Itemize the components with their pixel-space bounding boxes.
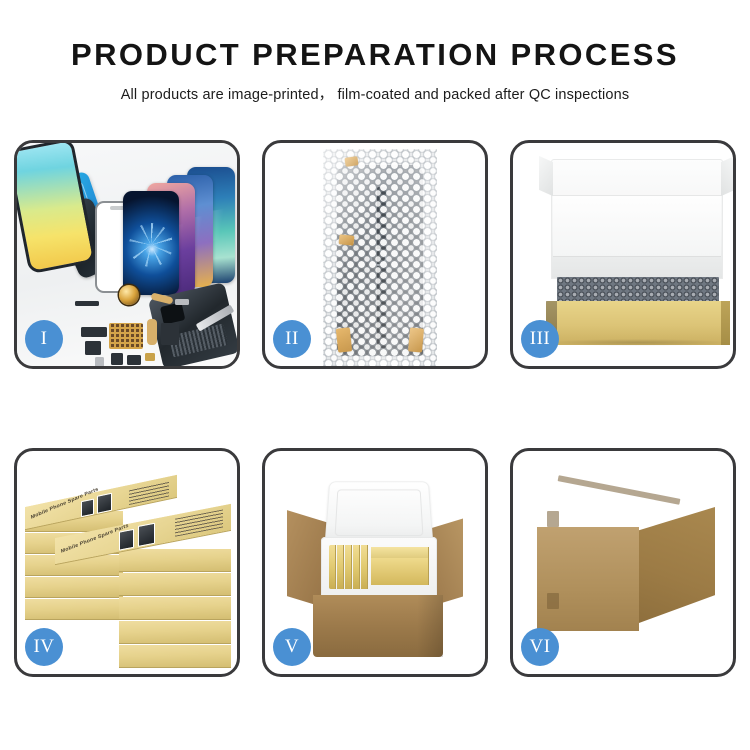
process-step-panel-6[interactable]: VI [510,448,736,677]
drop-shadow [549,339,727,346]
flex-cable-icon [150,292,173,304]
stacked-box [25,577,123,597]
lid-product-photo [97,493,112,514]
step-badge-3: III [521,320,559,358]
process-step-panel-4[interactable]: Mobile Phone Spare Parts Mobile Phone Sp… [14,448,240,677]
stacked-box [119,573,231,595]
lid-spec-text [129,481,169,506]
module-part-icon [161,323,179,345]
screw-part-icon [175,299,189,305]
lid-product-photo [138,523,155,547]
speaker-part-icon [127,355,141,365]
bubble-wrap-bag-icon [323,149,437,366]
step-badge-2: II [273,320,311,358]
foam-band-icon [553,195,721,257]
stacked-box [119,621,231,643]
process-step-panel-3[interactable]: III [510,140,736,369]
styrofoam-lid-icon [325,481,434,545]
inner-yellow-box [353,545,360,589]
bracket-part-icon [75,301,99,306]
inner-yellow-box [345,545,352,589]
plastic-gloss [323,149,437,366]
lid-product-photo [81,498,94,517]
inner-yellow-box [329,545,336,589]
camera-lens-icon [119,285,139,305]
gold-contact-icon [145,353,155,361]
stacked-box [119,597,231,619]
step-badge-6: VI [521,628,559,666]
inner-yellow-box-flat [371,558,429,584]
inner-yellow-box [337,545,344,589]
carton-front-face-icon [537,527,639,631]
screw-part-icon [111,353,123,365]
sim-tray-icon [95,357,104,366]
process-step-panel-5[interactable]: V [262,448,488,677]
inner-yellow-box [361,545,368,589]
seal-tape-corner-lower-icon [547,593,559,609]
lid-product-photo [119,529,134,551]
yellow-boxes-inside-icon [329,545,429,589]
step-badge-5: V [273,628,311,666]
page-subtitle: All products are image-printed， film-coa… [0,83,750,104]
process-step-grid: I II III [14,140,736,677]
bracket-part-icon [85,341,101,355]
phone-blue-swirl-wallpaper-icon [123,191,179,295]
flex-cable-icon [147,319,157,345]
inner-yellow-box-flat [371,547,429,558]
stacked-box [119,549,231,571]
stacked-box [119,645,231,667]
page-title: PRODUCT PREPARATION PROCESS [0,38,750,72]
spare-components-group [75,283,215,366]
page-header: PRODUCT PREPARATION PROCESS All products… [0,0,750,104]
stacked-box [25,599,123,619]
connector-part-icon [81,327,107,337]
logic-board-chip-icon [109,323,143,349]
process-step-panel-1[interactable]: I [14,140,240,369]
process-step-panel-2[interactable]: II [262,140,488,369]
step-badge-4: IV [25,628,63,666]
carton-body-icon [313,595,443,657]
seal-tape-corner-icon [547,511,559,527]
lid-spec-text [175,509,223,536]
step-badge-1: I [25,320,63,358]
